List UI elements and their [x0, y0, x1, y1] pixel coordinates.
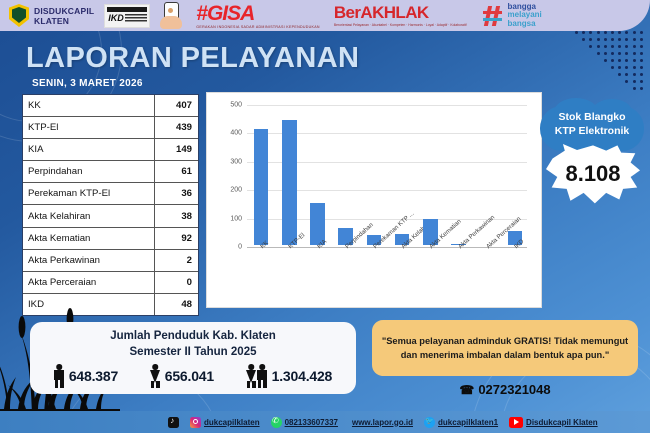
- table-row-value: 439: [154, 117, 198, 138]
- male-figure-icon: [257, 364, 268, 388]
- table-row-value: 38: [154, 205, 198, 226]
- phone-icon: ☎: [459, 383, 474, 397]
- chart-gridline: [247, 105, 527, 106]
- service-bar-chart: 0100200300400500KKKTP-ElKIAPerpindahanPe…: [206, 92, 542, 308]
- footer-item-label[interactable]: Disdukcapil Klaten: [526, 418, 598, 427]
- footer-bar: dukcapilklaten082133607337www.lapor.go.i…: [0, 411, 650, 433]
- footer-item[interactable]: dukcapilklaten: [190, 417, 260, 428]
- population-stats: 648.387 656.041 1.304.428: [30, 364, 356, 388]
- table-row: KIA149: [23, 139, 198, 161]
- table-row: Perekaman KTP-El36: [23, 183, 198, 205]
- infographic-poster: DISDUKCAPIL KLATEN IKD #GISA GERAKAN IND…: [0, 0, 650, 433]
- table-row-value: 2: [154, 250, 198, 271]
- table-row: KTP-El439: [23, 117, 198, 139]
- male-figure-icon: [54, 364, 65, 388]
- whatsapp-icon[interactable]: [271, 417, 282, 428]
- female-figure-icon: [150, 364, 161, 388]
- population-title-line2: Semester II Tahun 2025: [30, 346, 356, 358]
- stock-badge-title-line2: KTP Elektronik: [540, 125, 644, 139]
- population-total: 1.304.428: [246, 364, 332, 388]
- berakhlak-logo-sub: Berorientasi Pelayanan · Akuntabel · Kom…: [334, 23, 467, 27]
- population-total-value: 1.304.428: [272, 368, 332, 384]
- bangga-label3: bangsa: [508, 20, 542, 28]
- table-row-label: Akta Kelahiran: [23, 211, 154, 222]
- table-row: Akta Perceraian0: [23, 272, 198, 294]
- hashtag-icon: [483, 5, 505, 27]
- agency-name-line2: KLATEN: [34, 16, 94, 26]
- table-row-label: KK: [23, 100, 154, 111]
- table-row-label: Perekaman KTP-El: [23, 188, 154, 199]
- table-row-label: Akta Perkawinan: [23, 255, 154, 266]
- table-row-label: Akta Perceraian: [23, 277, 154, 288]
- table-row: Akta Perkawinan2: [23, 250, 198, 272]
- instagram-icon[interactable]: [190, 417, 201, 428]
- ikd-logo: IKD: [104, 4, 150, 28]
- population-female: 656.041: [150, 364, 214, 388]
- table-row-value: 407: [154, 95, 198, 116]
- female-figure-icon: [246, 364, 257, 388]
- agency-name-line1: DISDUKCAPIL: [34, 6, 94, 16]
- gisa-logo-sub: GERAKAN INDONESIA SADAR ADMINISTRASI KEP…: [196, 25, 320, 29]
- service-table: KK407KTP-El439KIA149Perpindahan61Perekam…: [22, 94, 199, 316]
- population-female-value: 656.041: [165, 368, 214, 384]
- chart-bar: [254, 129, 269, 245]
- chart-bar: [282, 120, 297, 245]
- stock-badge-value: 8.108: [546, 161, 640, 187]
- footer-item-label[interactable]: 082133607337: [285, 418, 338, 427]
- population-male-value: 648.387: [69, 368, 118, 384]
- table-row: Perpindahan61: [23, 161, 198, 183]
- chart-y-tick: 100: [230, 215, 242, 222]
- ikd-logo-label: IKD: [108, 13, 124, 23]
- table-row-label: Akta Kematian: [23, 233, 154, 244]
- stock-badge: Stok Blangko KTP Elektronik 8.108: [536, 106, 646, 214]
- stock-badge-title-line1: Stok Blangko: [540, 111, 644, 125]
- footer-item-label[interactable]: www.lapor.go.id: [352, 418, 413, 427]
- gisa-logo: #GISA GERAKAN INDONESIA SADAR ADMINISTRA…: [196, 2, 320, 29]
- population-title-line1: Jumlah Penduduk Kab. Klaten: [30, 330, 356, 342]
- contact-phone-number: 0272321048: [478, 382, 550, 397]
- notice-text: "Semua pelayanan adminduk GRATIS! Tidak …: [372, 334, 638, 362]
- population-card: Jumlah Penduduk Kab. Klaten Semester II …: [30, 322, 356, 394]
- notice-box: "Semua pelayanan adminduk GRATIS! Tidak …: [372, 320, 638, 376]
- kabupaten-klaten-logo: DISDUKCAPIL KLATEN: [0, 4, 94, 27]
- population-male: 648.387: [54, 364, 118, 388]
- phone-illustration-icon: [158, 2, 184, 29]
- table-row-value: 0: [154, 272, 198, 293]
- bangga-melayani-bangsa-logo: bangga melayani bangsa: [483, 3, 542, 28]
- table-row-value: 61: [154, 161, 198, 182]
- chart-plot-area: 0100200300400500KKKTP-ElKIAPerpindahanPe…: [247, 105, 527, 245]
- chart-y-tick: 300: [230, 158, 242, 165]
- twitter-icon[interactable]: [424, 417, 435, 428]
- footer-links: dukcapilklaten082133607337www.lapor.go.i…: [168, 417, 609, 428]
- footer-item[interactable]: www.lapor.go.id: [349, 418, 413, 427]
- chart-y-tick: 400: [230, 130, 242, 137]
- table-row: Akta Kelahiran38: [23, 205, 198, 227]
- table-row: Akta Kematian92: [23, 228, 198, 250]
- gisa-logo-label: #GISA: [196, 2, 320, 26]
- berakhlak-logo: BerAKHLAK Berorientasi Pelayanan · Akunt…: [334, 3, 467, 27]
- report-date: SENIN, 3 MARET 2026: [32, 78, 143, 89]
- crest-icon: [9, 4, 29, 27]
- youtube-icon[interactable]: [509, 417, 523, 428]
- footer-item[interactable]: 082133607337: [271, 417, 338, 428]
- page-title: LAPORAN PELAYANAN: [26, 42, 446, 75]
- table-row-label: KIA: [23, 144, 154, 155]
- agency-name: DISDUKCAPIL KLATEN: [34, 6, 94, 26]
- footer-item-label[interactable]: dukcapilklaten1: [438, 418, 498, 427]
- chart-y-tick: 500: [230, 102, 242, 109]
- table-row: KK407: [23, 95, 198, 117]
- berakhlak-logo-label: BerAKHLAK: [334, 3, 467, 23]
- table-row-value: 92: [154, 228, 198, 249]
- footer-item[interactable]: dukcapilklaten1: [424, 417, 498, 428]
- decorative-dot-pattern: [575, 31, 647, 95]
- table-row-label: KTP-El: [23, 122, 154, 133]
- footer-item[interactable]: Disdukcapil Klaten: [509, 417, 598, 428]
- chart-y-tick: 0: [238, 244, 242, 251]
- table-row-label: Perpindahan: [23, 166, 154, 177]
- footer-item-label[interactable]: dukcapilklaten: [204, 418, 260, 427]
- footer-item[interactable]: [168, 417, 179, 428]
- table-row-value: 48: [154, 294, 198, 315]
- logo-bar: DISDUKCAPIL KLATEN IKD #GISA GERAKAN IND…: [0, 0, 650, 31]
- chart-y-tick: 200: [230, 187, 242, 194]
- table-row-value: 36: [154, 183, 198, 204]
- table-row-value: 149: [154, 139, 198, 160]
- stock-badge-title: Stok Blangko KTP Elektronik: [540, 111, 644, 138]
- tiktok-icon[interactable]: [168, 417, 179, 428]
- contact-phone: ☎0272321048: [372, 382, 638, 397]
